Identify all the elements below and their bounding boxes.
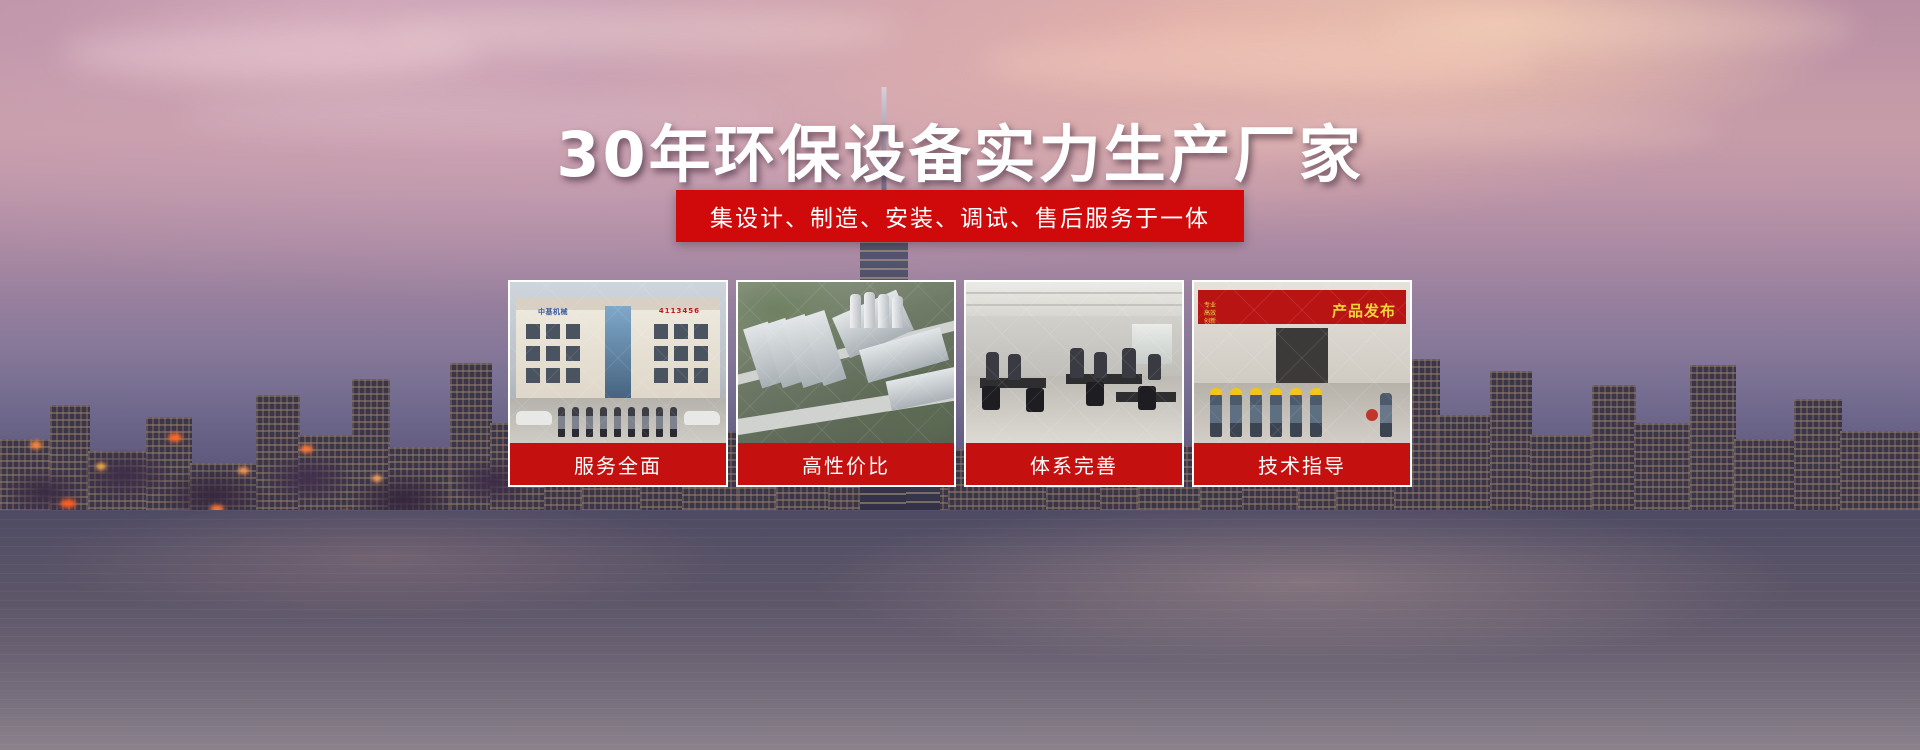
hero-banner: 30年环保设备实力生产厂家 集设计、制造、安装、调试、售后服务于一体 中基机械 … <box>0 0 1920 750</box>
feature-card-list: 中基机械 4113456 <box>508 280 1412 487</box>
card-photo-office <box>964 280 1184 443</box>
card-label: 体系完善 <box>964 443 1184 487</box>
feature-card[interactable]: 高性价比 <box>736 280 956 487</box>
card-photo-plant <box>736 280 956 443</box>
feature-card[interactable]: 专业高效创新 产品发布 技术指导 <box>1192 280 1412 487</box>
subtitle-banner: 集设计、制造、安装、调试、售后服务于一体 <box>676 190 1244 242</box>
feature-card[interactable]: 体系完善 <box>964 280 1184 487</box>
card-label: 服务全面 <box>508 443 728 487</box>
card-photo-workshop: 专业高效创新 产品发布 <box>1192 280 1412 443</box>
watermark-overlay <box>966 282 1182 443</box>
feature-card[interactable]: 中基机械 4113456 <box>508 280 728 487</box>
page-title: 30年环保设备实力生产厂家 <box>0 104 1920 194</box>
watermark-overlay <box>1194 282 1410 443</box>
card-label: 高性价比 <box>736 443 956 487</box>
card-label: 技术指导 <box>1192 443 1412 487</box>
watermark-overlay <box>510 282 726 443</box>
watermark-overlay <box>738 282 954 443</box>
card-photo-building: 中基机械 4113456 <box>508 280 728 443</box>
